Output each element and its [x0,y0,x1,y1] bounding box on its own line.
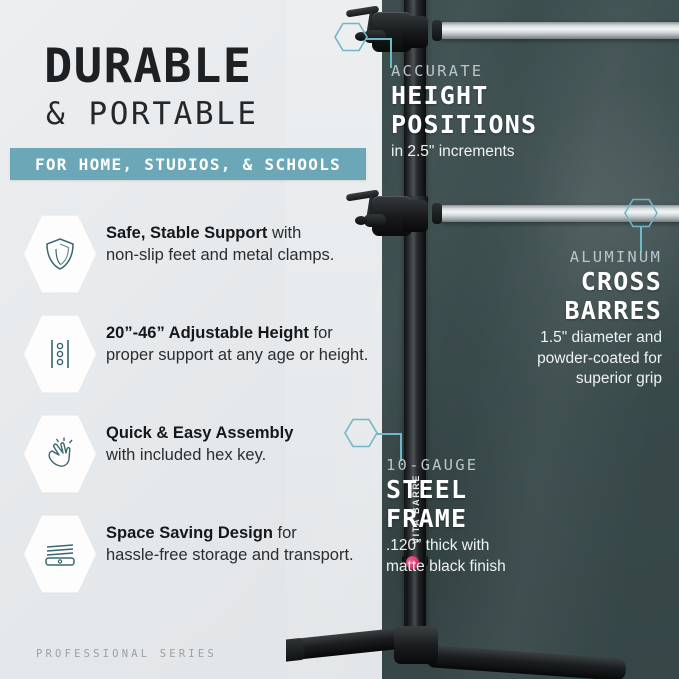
callout-title-line1: STEEL [386,475,636,504]
headline-block: DURABLE & PORTABLE [44,44,384,130]
feature-line1: Safe, Stable Support with [106,222,396,244]
feature-text: 20”-46” Adjustable Height for proper sup… [106,306,396,367]
callout-subtext-line2: powder-coated for [394,349,662,369]
feature-item-adjustable-height: 20”-46” Adjustable Height for proper sup… [24,306,396,406]
feature-bold: Safe, Stable Support [106,224,267,242]
feature-item-quick-easy-assembly: Quick & Easy Assembly with included hex … [24,406,396,506]
shield-icon [24,214,96,294]
feature-bold: Space Saving Design [106,524,273,542]
callout-kicker: ACCURATE [391,62,641,81]
feature-bold: Quick & Easy Assembly [106,424,293,442]
hand-assembly-icon [24,414,96,494]
feature-line2: non-slip feet and metal clamps. [106,244,396,266]
feature-line1: 20”-46” Adjustable Height for [106,322,396,344]
callout-subtext-line3: superior grip [394,369,662,389]
clamp-collar [402,16,428,48]
callout-steel-frame: 10-GAUGE STEEL FRAME .120” thick with ma… [386,456,636,577]
feature-line2: with included hex key. [106,444,396,466]
clamp-collar [402,200,428,232]
feature-line2: hassle-free storage and transport. [106,544,396,566]
cross-barre-top [436,22,679,39]
hex-connector-height-h [366,38,392,40]
audience-ribbon-text: FOR HOME, STUDIOS, & SCHOOLS [35,155,341,174]
headline-secondary: & PORTABLE [46,99,384,130]
callout-kicker: 10-GAUGE [386,456,636,475]
feature-bold: 20”-46” Adjustable Height [106,324,309,342]
feature-item-safe-stable-support: Safe, Stable Support with non-slip feet … [24,206,396,306]
professional-series-label: PROFESSIONAL SERIES [36,648,217,660]
callout-height-positions: ACCURATE HEIGHT POSITIONS in 2.5" increm… [391,62,641,163]
callout-subtext-line1: 1.5" diameter and [394,328,662,348]
callout-title-line2: FRAME [386,504,636,533]
feature-line1: Space Saving Design for [106,522,396,544]
feature-item-space-saving-design: Space Saving Design for hassle-free stor… [24,506,396,606]
infographic-canvas: VITA BARRE [0,0,679,679]
feature-text: Safe, Stable Support with non-slip feet … [106,206,396,267]
callout-cross-barres: ALUMINUM CROSS BARRES 1.5" diameter and … [394,248,662,389]
feature-list: Safe, Stable Support with non-slip feet … [24,206,396,606]
headline-primary: DURABLE [44,44,384,90]
stacked-storage-icon [24,514,96,594]
callout-title-line1: HEIGHT [391,81,641,110]
feature-rest: for [273,524,297,542]
callout-subtext: in 2.5" increments [391,142,641,162]
feature-rest: with [267,224,301,242]
callout-title-line1: CROSS [394,267,662,296]
feature-text: Quick & Easy Assembly with included hex … [106,406,396,467]
feature-line1: Quick & Easy Assembly [106,422,396,444]
callout-subtext-line1: .120” thick with [386,536,636,556]
callout-title-line2: POSITIONS [391,110,641,139]
callout-subtext-line2: matte black finish [386,557,636,577]
adjustable-height-icon [24,314,96,394]
audience-ribbon: FOR HOME, STUDIOS, & SCHOOLS [10,148,366,180]
base-hub [394,626,438,664]
feature-text: Space Saving Design for hassle-free stor… [106,506,396,567]
callout-title-line2: BARRES [394,296,662,325]
feature-rest: for [309,324,333,342]
base-leg-right [425,645,626,679]
hex-marker-barre [624,198,658,228]
feature-line2: proper support at any age or height. [106,344,396,366]
callout-kicker: ALUMINUM [394,248,662,267]
